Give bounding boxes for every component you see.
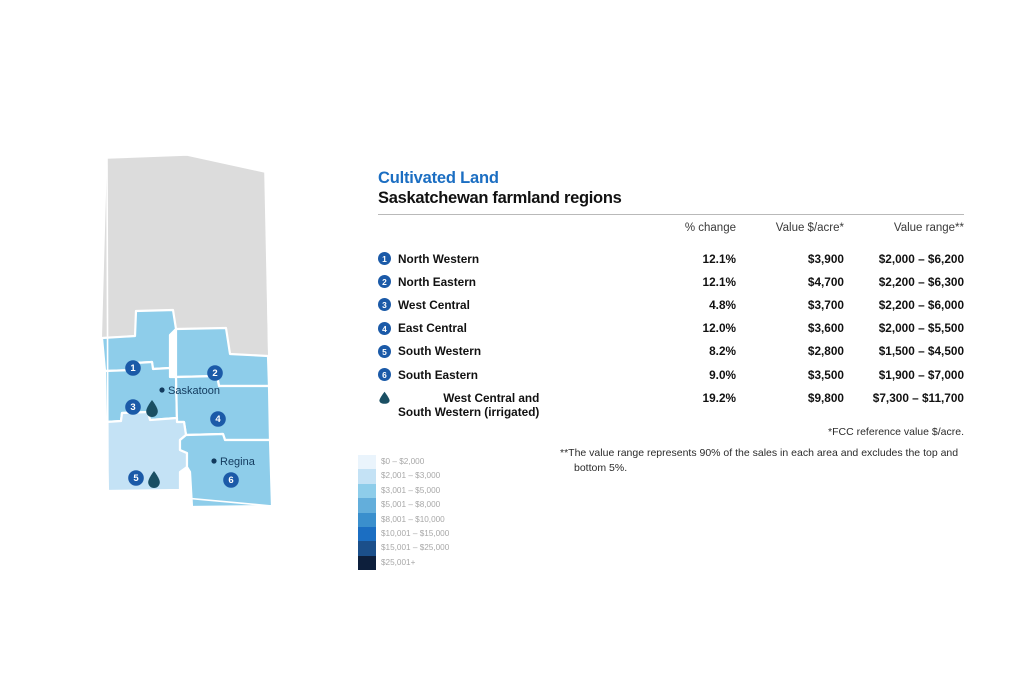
region-name: North Eastern — [398, 275, 476, 289]
cell-region: 6 South Eastern — [378, 363, 626, 386]
cell-region: 5 South Western — [378, 340, 626, 363]
map-badge-5[interactable]: 5 — [128, 470, 144, 486]
cell-value-per-acre: $2,800 — [736, 340, 844, 363]
page-title-eyebrow: Cultivated Land — [378, 168, 964, 188]
map-region-north-unshaded — [102, 155, 268, 356]
cell-value-range: $7,300 – $11,700 — [844, 386, 964, 423]
map-badge-4-label: 4 — [215, 414, 221, 425]
legend-swatch — [358, 469, 376, 483]
region-badge-2-icon: 2 — [378, 275, 391, 288]
map-badge-3-label: 3 — [130, 402, 135, 413]
city-label-regina: Regina — [220, 456, 256, 468]
legend-label: $15,001 – $25,000 — [376, 541, 449, 555]
legend-swatch — [358, 498, 376, 512]
legend-swatch — [358, 455, 376, 469]
table-row[interactable]: West Central andSouth Western (irrigated… — [378, 386, 964, 423]
map-badge-1-label: 1 — [130, 363, 136, 374]
map-region-south-eastern[interactable] — [180, 434, 272, 507]
cell-region: 3 West Central — [378, 293, 626, 316]
legend-item: $0 – $2,000 — [358, 455, 478, 469]
cell-value-per-acre: $9,800 — [736, 386, 844, 423]
footnote-fcc-reference: *FCC reference value $/acre. — [560, 425, 964, 440]
saskatchewan-map: Saskatoon Regina 1 2 3 4 — [80, 150, 290, 520]
svg-text:6: 6 — [382, 370, 387, 380]
legend-swatch — [358, 527, 376, 541]
cell-value-per-acre: $3,900 — [736, 247, 844, 270]
map-value-legend: $0 – $2,000 $2,001 – $3,000 $3,001 – $5,… — [358, 455, 478, 570]
legend-label: $5,001 – $8,000 — [376, 498, 440, 512]
region-name: West Central — [398, 298, 470, 312]
city-dot-regina — [211, 458, 216, 463]
cell-value-range: $1,500 – $4,500 — [844, 340, 964, 363]
legend-swatch — [358, 513, 376, 527]
svg-text:2: 2 — [382, 277, 387, 287]
region-badge-6-icon: 6 — [378, 368, 391, 381]
footnote-value-range: **The value range represents 90% of the … — [560, 446, 964, 476]
table-row[interactable]: 6 South Eastern 9.0% $3,500 $1,900 – $7,… — [378, 363, 964, 386]
table-row[interactable]: 1 North Western 12.1% $3,900 $2,000 – $6… — [378, 247, 964, 270]
table-row[interactable]: 2 North Eastern 12.1% $4,700 $2,200 – $6… — [378, 270, 964, 293]
legend-label: $8,001 – $10,000 — [376, 513, 445, 527]
map-badge-6-label: 6 — [228, 475, 233, 486]
legend-swatch — [358, 556, 376, 570]
legend-item: $10,001 – $15,000 — [358, 527, 478, 541]
infographic-root: Saskatoon Regina 1 2 3 4 — [0, 0, 1024, 675]
region-name-line1: West Central and — [443, 391, 539, 405]
legend-label: $3,001 – $5,000 — [376, 484, 440, 498]
column-header-value-range: Value range** — [844, 215, 964, 247]
legend-item: $25,001+ — [358, 556, 478, 570]
cell-pct-change: 12.0% — [626, 317, 736, 340]
cell-value-per-acre: $3,600 — [736, 317, 844, 340]
cell-pct-change: 12.1% — [626, 247, 736, 270]
legend-label: $2,001 – $3,000 — [376, 469, 440, 483]
cell-region: West Central andSouth Western (irrigated… — [378, 386, 626, 423]
cell-value-per-acre: $3,700 — [736, 293, 844, 316]
legend-swatch — [358, 541, 376, 555]
city-dot-saskatoon — [159, 387, 164, 392]
svg-text:5: 5 — [382, 347, 387, 357]
region-badge-1-icon: 1 — [378, 252, 391, 265]
cell-region: 4 East Central — [378, 317, 626, 340]
legend-item: $2,001 – $3,000 — [358, 469, 478, 483]
cell-value-per-acre: $4,700 — [736, 270, 844, 293]
cell-pct-change: 12.1% — [626, 270, 736, 293]
cell-region: 1 North Western — [378, 247, 626, 270]
table-row[interactable]: 3 West Central 4.8% $3,700 $2,200 – $6,0… — [378, 293, 964, 316]
map-svg: Saskatoon Regina 1 2 3 4 — [80, 150, 290, 520]
svg-text:3: 3 — [382, 300, 387, 310]
legend-swatch — [358, 484, 376, 498]
map-badge-4[interactable]: 4 — [210, 411, 226, 427]
table-header-row: % change Value $/acre* Value range** — [378, 215, 964, 247]
cell-value-range: $2,200 – $6,000 — [844, 293, 964, 316]
legend-label: $0 – $2,000 — [376, 455, 424, 469]
cell-value-range: $2,000 – $6,200 — [844, 247, 964, 270]
cell-value-per-acre: $3,500 — [736, 363, 844, 386]
region-name: West Central andSouth Western (irrigated… — [398, 391, 539, 419]
region-name: South Western — [398, 344, 481, 358]
farmland-regions-table: % change Value $/acre* Value range** 1 N… — [378, 215, 964, 423]
region-name: East Central — [398, 321, 467, 335]
cell-pct-change: 9.0% — [626, 363, 736, 386]
region-badge-5-icon: 5 — [378, 345, 391, 358]
svg-text:1: 1 — [382, 254, 387, 264]
map-badge-3[interactable]: 3 — [125, 399, 141, 415]
title-block: Cultivated Land Saskatchewan farmland re… — [378, 168, 964, 208]
map-badge-1[interactable]: 1 — [125, 360, 141, 376]
svg-text:4: 4 — [382, 324, 387, 334]
map-badge-2-label: 2 — [212, 368, 217, 379]
cell-value-range: $1,900 – $7,000 — [844, 363, 964, 386]
cell-pct-change: 8.2% — [626, 340, 736, 363]
cell-pct-change: 4.8% — [626, 293, 736, 316]
region-badge-3-icon: 3 — [378, 298, 391, 311]
region-name-line2: South Western (irrigated) — [398, 405, 539, 419]
map-badge-5-label: 5 — [133, 473, 139, 484]
map-region-south-western[interactable] — [106, 412, 187, 491]
column-header-region — [378, 215, 626, 247]
legend-item: $5,001 – $8,000 — [358, 498, 478, 512]
legend-item: $15,001 – $25,000 — [358, 541, 478, 555]
legend-item: $8,001 – $10,000 — [358, 513, 478, 527]
cell-region: 2 North Eastern — [378, 270, 626, 293]
legend-label: $25,001+ — [376, 556, 415, 570]
table-row[interactable]: 4 East Central 12.0% $3,600 $2,000 – $5,… — [378, 317, 964, 340]
map-badge-6[interactable]: 6 — [223, 472, 239, 488]
region-name: South Eastern — [398, 368, 478, 382]
legend-item: $3,001 – $5,000 — [358, 484, 478, 498]
map-badge-2[interactable]: 2 — [207, 365, 223, 381]
city-label-saskatoon: Saskatoon — [168, 385, 220, 397]
content-panel: Cultivated Land Saskatchewan farmland re… — [378, 168, 964, 423]
column-header-value-per-acre: Value $/acre* — [736, 215, 844, 247]
footnotes: *FCC reference value $/acre. **The value… — [560, 425, 964, 476]
page-title: Saskatchewan farmland regions — [378, 188, 964, 208]
cell-value-range: $2,200 – $6,300 — [844, 270, 964, 293]
cell-pct-change: 19.2% — [626, 386, 736, 423]
column-header-pct-change: % change — [626, 215, 736, 247]
region-name: North Western — [398, 252, 479, 266]
cell-value-range: $2,000 – $5,500 — [844, 317, 964, 340]
table-row[interactable]: 5 South Western 8.2% $2,800 $1,500 – $4,… — [378, 340, 964, 363]
legend-label: $10,001 – $15,000 — [376, 527, 449, 541]
region-badge-4-icon: 4 — [378, 322, 391, 335]
droplet-icon — [378, 391, 391, 404]
